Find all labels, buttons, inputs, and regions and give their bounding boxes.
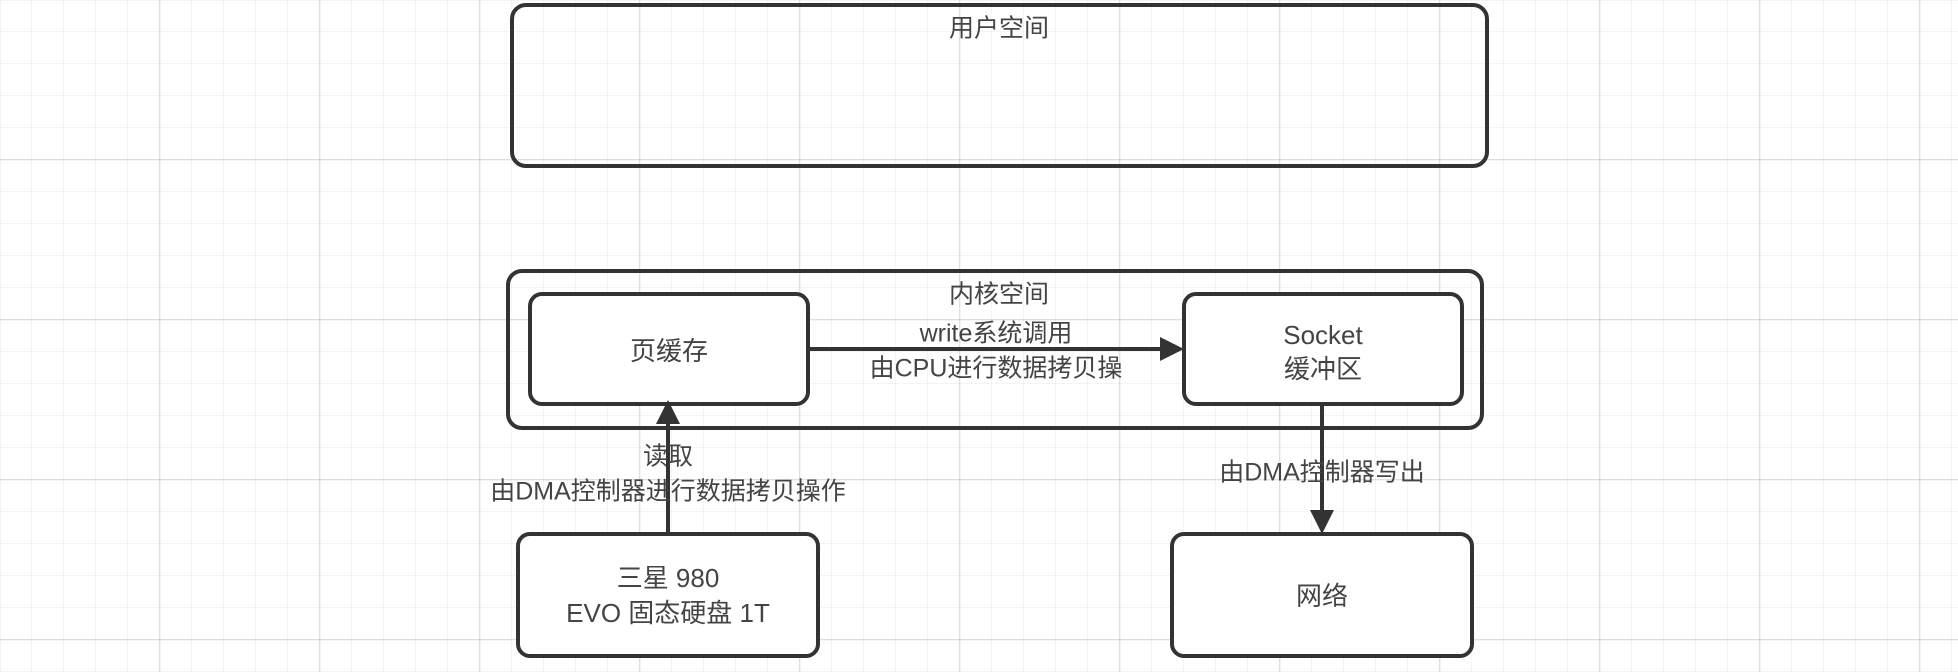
network-label: 网络 <box>1296 581 1348 611</box>
kernel-space-label: 内核空间 <box>949 281 1049 309</box>
edge-page-cache-to-socket-arrowhead <box>1160 337 1184 361</box>
diagram-canvas: 用户空间 内核空间 页缓存 Socket 缓冲区 三星 980 EVO 固态硬盘… <box>0 0 1958 672</box>
disk-node[interactable] <box>518 534 818 656</box>
socket-buffer-label-line1: Socket <box>1283 320 1363 350</box>
edge-disk-to-page-cache-label-line2: 由DMA控制器进行数据拷贝操作 <box>490 478 846 506</box>
diagram-svg: 用户空间 内核空间 页缓存 Socket 缓冲区 三星 980 EVO 固态硬盘… <box>0 0 1958 672</box>
edge-disk-to-page-cache-label-line1: 读取 <box>643 443 693 471</box>
edge-socket-to-network-arrowhead <box>1310 510 1334 534</box>
socket-buffer-label-line2: 缓冲区 <box>1284 354 1362 384</box>
edge-socket-to-network-label-line1: 由DMA控制器写出 <box>1219 459 1425 487</box>
edge-page-cache-to-socket-label-line1: write系统调用 <box>919 320 1073 348</box>
user-space-label: 用户空间 <box>949 15 1049 43</box>
page-cache-label: 页缓存 <box>630 336 708 366</box>
disk-label-line2: EVO 固态硬盘 1T <box>566 598 770 628</box>
edge-page-cache-to-socket-label-line2: 由CPU进行数据拷贝操 <box>870 355 1123 383</box>
disk-label-line1: 三星 980 <box>617 563 720 593</box>
